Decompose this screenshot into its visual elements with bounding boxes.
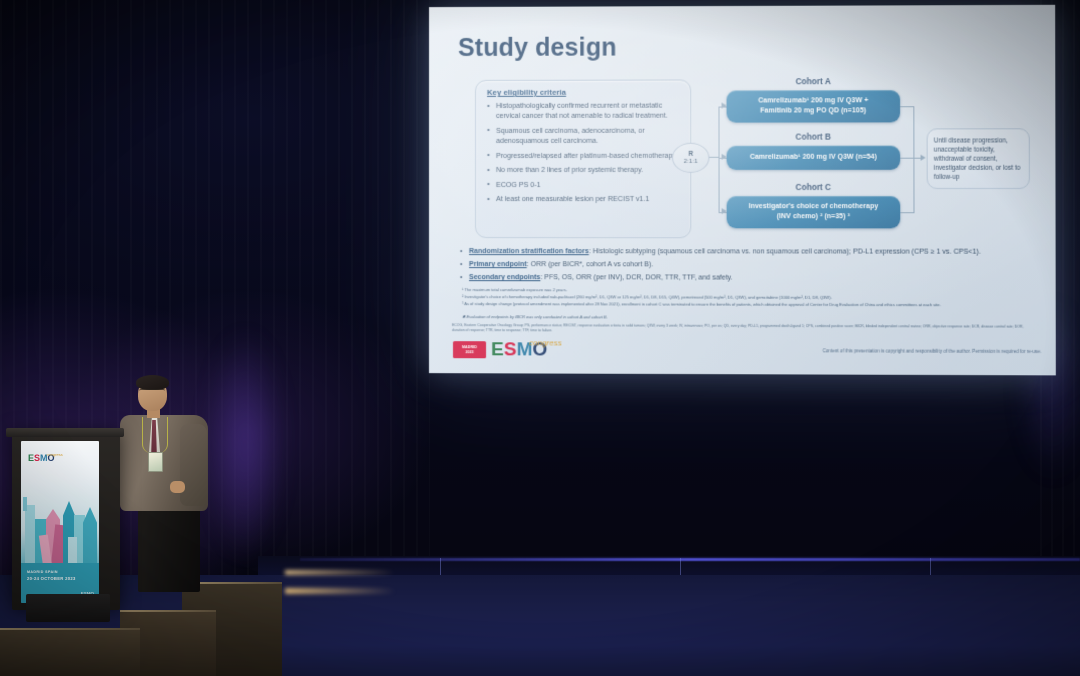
- eligibility-heading: Key eligibility criteria: [487, 88, 566, 97]
- list-item: Squamous cell carcinoma, adenocarcinoma,…: [496, 125, 681, 146]
- madrid-skyline-illustration: [21, 475, 99, 567]
- skyline-shape: [83, 507, 97, 567]
- list-item: Histopathologically confirmed recurrent …: [496, 101, 681, 122]
- stage-monitor-speaker: [26, 594, 110, 622]
- cohort-a-label: Cohort A: [727, 77, 901, 86]
- outcome-box: Until disease progression, unacceptable …: [927, 128, 1030, 189]
- bullet-text: : Histologic subtyping (squamous cell ca…: [589, 248, 981, 256]
- cohort-a-line2: Famitinib 20 mg PO QD (n=105): [760, 106, 866, 116]
- podium-esmo-logo: E S M O congress: [28, 452, 63, 462]
- list-item: ECOG PS 0-1: [496, 180, 681, 190]
- eligibility-list: Histopathologically confirmed recurrent …: [476, 80, 690, 204]
- year-label: 2023: [466, 350, 474, 354]
- speaker-arm: [180, 424, 207, 506]
- cohort-c-box: Investigator's choice of chemotherapy (I…: [727, 196, 901, 228]
- bullet-text: : ORR (per BICR*, cohort A vs cohort B).: [527, 261, 653, 268]
- connector-line: [900, 106, 913, 107]
- step-edge-highlight: [0, 628, 140, 630]
- list-item: No more than 2 lines of prior systemic t…: [496, 165, 681, 175]
- cohort-c-label: Cohort C: [727, 183, 901, 192]
- cohort-b-label: Cohort B: [727, 132, 901, 141]
- connector-line: [900, 212, 913, 213]
- bullet-label: Randomization stratification factors: [469, 248, 589, 255]
- bullet-primary-endpoint: Primary endpoint: ORR (per BICR*, cohort…: [469, 260, 653, 270]
- eligibility-criteria-box: Key eligibility criteria Histopathologic…: [475, 79, 691, 238]
- esmo-logo: E S M O congress: [491, 338, 562, 358]
- randomization-ratio: 2:1:1: [684, 157, 698, 164]
- copyright-notice: Content of this presentation is copyrigh…: [823, 348, 1042, 354]
- stage-step-lower: [0, 628, 140, 676]
- outcome-text: Until disease progression, unacceptable …: [934, 136, 1023, 182]
- bullet-label: Primary endpoint: [469, 261, 527, 268]
- cohort-a-box: Camrelizumab¹ 200 mg IV Q3W + Famitinib …: [727, 90, 901, 123]
- cohort-c-line2: (INV chemo) ² (n=35) ³: [777, 212, 850, 222]
- madrid-2023-badge: MADRID 2023: [453, 341, 486, 358]
- stage-warm-light: [285, 570, 395, 575]
- footnote-4: ✱ Evaluation of endpoints by BICR was on…: [462, 314, 1029, 321]
- esmo-logo-suffix: congress: [529, 338, 562, 347]
- connector-line: [900, 158, 913, 159]
- bullet-randomization-factors: Randomization stratification factors: Hi…: [469, 247, 981, 258]
- footnote-3: ³ As of study design change (protocol am…: [462, 301, 1029, 308]
- abbreviations-text: ECOG, Eastern Cooperative Oncology Group…: [452, 323, 1033, 335]
- speaker-lanyard: [142, 417, 168, 453]
- speaker-legs: [138, 504, 200, 592]
- projected-slide: Study design Key eligibility criteria Hi…: [429, 5, 1056, 376]
- speaker-hair: [136, 375, 169, 390]
- stage-led-strip-top: [300, 558, 1080, 561]
- auditorium-scene: Study design Key eligibility criteria Hi…: [0, 0, 1080, 676]
- cohort-b-box: Camrelizumab¹ 200 mg IV Q3W (n=54): [727, 146, 901, 170]
- bullet-label: Secondary endpoints: [469, 274, 540, 281]
- podium-branding-panel: E S M O congress MADRID SPAIN 20-24 OCTO…: [21, 441, 99, 603]
- skyline-shape: [23, 497, 27, 511]
- podium-location-text: MADRID SPAIN: [27, 570, 58, 574]
- bullet-secondary-endpoints: Secondary endpoints: PFS, OS, ORR (per I…: [469, 273, 733, 284]
- cohort-b-line1: Camrelizumab¹ 200 mg IV Q3W (n=54): [750, 153, 877, 163]
- speaker-glasses-icon: [139, 389, 165, 395]
- skyline-shape: [25, 505, 35, 567]
- podium-top-surface: [6, 428, 124, 437]
- esmo-logo-suffix: congress: [47, 452, 63, 457]
- speaker-hand: [170, 481, 185, 493]
- list-item: Progressed/relapsed after platinum-based…: [496, 150, 681, 160]
- bullet-text: : PFS, OS, ORR (per INV), DCR, DOR, TTR,…: [540, 274, 732, 281]
- connector-line: [913, 106, 914, 213]
- speaker-presenter: [112, 376, 220, 591]
- slide-title: Study design: [458, 33, 617, 62]
- footnote-1: ¹ The maximum total camrelizumab exposur…: [462, 287, 1029, 294]
- arrow-head-icon: [921, 155, 926, 161]
- podium-date-text: 20-24 OCTOBER 2023: [27, 576, 76, 581]
- footnote-2: ² Investigator's choice of chemotherapy …: [462, 294, 1029, 301]
- connector-line: [718, 107, 719, 213]
- list-item: At least one measurable lesion per RECIS…: [496, 194, 681, 204]
- step-edge-highlight: [120, 610, 216, 612]
- cohort-c-line1: Investigator's choice of chemotherapy: [749, 202, 878, 212]
- cohort-a-line1: Camrelizumab¹ 200 mg IV Q3W +: [758, 96, 868, 106]
- randomization-node: R 2:1:1: [672, 143, 709, 173]
- stage-warm-light: [285, 588, 395, 594]
- esmo-letter-s: S: [504, 341, 517, 358]
- speaker-badge: [148, 452, 163, 472]
- esmo-letter-e: E: [491, 341, 504, 358]
